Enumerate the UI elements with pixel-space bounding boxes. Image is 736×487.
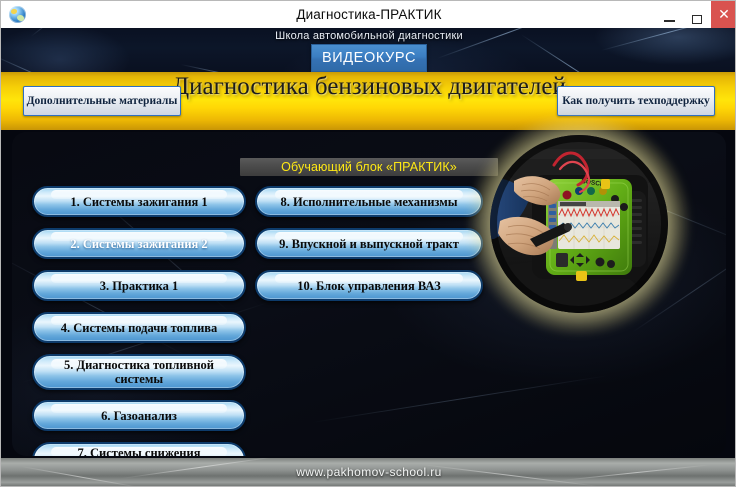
menu-button-9[interactable]: 9. Впускной и выпускной тракт <box>255 228 483 259</box>
window-title: Диагностика-ПРАКТИК <box>1 1 736 28</box>
menu-button-label: 1. Системы зажигания 1 <box>60 195 217 209</box>
minimize-icon <box>664 20 675 22</box>
menu-button-label: 5. Диагностика топливной системы <box>34 358 244 386</box>
menu-button-label: 6. Газоанализ <box>91 409 187 423</box>
maximize-button[interactable] <box>683 1 711 28</box>
close-icon: ✕ <box>711 1 736 28</box>
bosch-fsa-scope-photo: BOSCH FSA 400 <box>490 135 668 313</box>
menu-button-label: 4. Системы подачи топлива <box>51 321 228 335</box>
close-button[interactable]: ✕ <box>711 1 736 28</box>
menu-button-4[interactable]: 4. Системы подачи топлива <box>32 312 246 343</box>
menu-button-3[interactable]: 3. Практика 1 <box>32 270 246 301</box>
menu-button-label: 7. Системы снижения токсичности <box>34 446 244 456</box>
section-label: Обучающий блок «ПРАКТИК» <box>240 158 498 176</box>
school-tagline: Школа автомобильной диагностики <box>1 30 736 42</box>
extra-materials-button[interactable]: Дополнительные материалы <box>23 86 181 116</box>
menu-button-5[interactable]: 5. Диагностика топливной системы <box>32 354 246 390</box>
menu-button-label: 10. Блок управления ВАЗ <box>287 279 450 293</box>
menu-button-2[interactable]: 2. Системы зажигания 2 <box>32 228 246 259</box>
maximize-icon <box>692 15 702 24</box>
footer-bar: www.pakhomov-school.ru <box>1 458 736 487</box>
menu-button-8[interactable]: 8. Исполнительные механизмы <box>255 186 483 217</box>
menu-button-label: 3. Практика 1 <box>90 279 189 293</box>
menu-button-1[interactable]: 1. Системы зажигания 1 <box>32 186 246 217</box>
menu-button-label: 9. Впускной и выпускной тракт <box>269 237 469 251</box>
menu-button-10[interactable]: 10. Блок управления ВАЗ <box>255 270 483 301</box>
page-title: Диагностика бензиновых двигателей <box>169 73 569 101</box>
videocourse-button[interactable]: ВИДЕОКУРС <box>311 44 427 72</box>
menu-button-6[interactable]: 6. Газоанализ <box>32 400 246 431</box>
minimize-button[interactable] <box>655 1 683 28</box>
menu-button-label: 2. Системы зажигания 2 <box>60 237 217 251</box>
menu-button-label: 8. Исполнительные механизмы <box>270 195 467 209</box>
menu-button-7[interactable]: 7. Системы снижения токсичности <box>32 442 246 456</box>
slide-area: Школа автомобильной диагностики ВИДЕОКУР… <box>1 28 736 487</box>
application-window: Диагностика-ПРАКТИК ✕ Школа автомобильно… <box>0 0 736 487</box>
site-url: www.pakhomov-school.ru <box>1 458 736 487</box>
support-button[interactable]: Как получить техподдержку <box>557 86 715 116</box>
title-bar: Диагностика-ПРАКТИК ✕ <box>1 1 736 29</box>
